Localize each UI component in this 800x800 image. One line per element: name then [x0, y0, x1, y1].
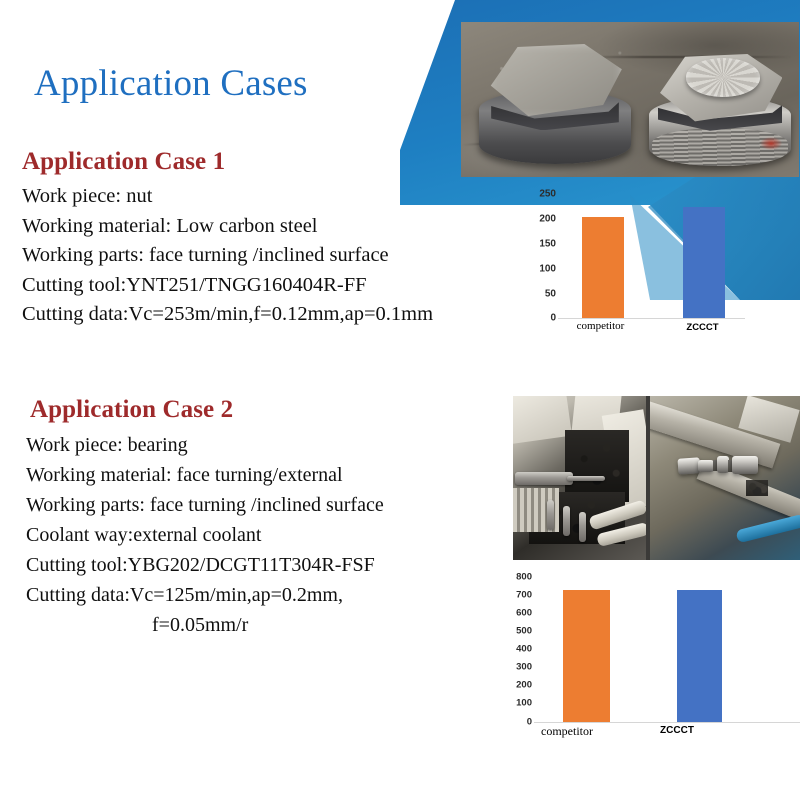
hex-plug-machined [649, 54, 791, 166]
plug-turned-boss [686, 58, 760, 96]
chart-1-y-axis: 250 200 150 100 50 0 [520, 192, 556, 322]
y-tick-label: 250 [539, 189, 556, 200]
chart-1-baseline [558, 318, 745, 319]
case-2-line-material: Working material: face turning/external [26, 460, 384, 490]
turned-shaft-section [698, 460, 714, 472]
y-tick-label: 600 [516, 608, 532, 619]
bar-zccct [677, 590, 722, 722]
chart-2-category-competitor: competitor [512, 724, 622, 739]
chart-case-1: 250 200 150 100 50 0 competitor ZCCCT [520, 192, 745, 342]
metal-chips [746, 480, 768, 496]
case-1-line-parts: Working parts: face turning /inclined su… [22, 241, 433, 271]
case-2-details: Work piece: bearing Working material: fa… [26, 430, 384, 640]
chart-1-bars [558, 192, 745, 318]
case-1-line-workpiece: Work piece: nut [22, 182, 433, 212]
chart-1-category-competitor: competitor [558, 320, 643, 332]
machining-photo-right [650, 396, 800, 560]
page-title: Application Cases [34, 62, 308, 105]
case-2-heading: Application Case 2 [30, 396, 233, 424]
hex-plug-parts-photo [461, 22, 799, 177]
y-tick-label: 50 [545, 289, 556, 300]
case-2-line-cutting-data: Cutting data:Vc=125m/min,ap=0.2mm, [26, 580, 384, 610]
case-2-line-coolant: Coolant way:external coolant [26, 520, 384, 550]
bar-competitor [582, 217, 624, 318]
y-tick-label: 400 [516, 644, 532, 655]
y-tick-label: 200 [539, 214, 556, 225]
bar-competitor [563, 590, 610, 722]
tool-holder [547, 500, 554, 530]
y-tick-label: 0 [550, 313, 556, 324]
y-tick-label: 100 [539, 264, 556, 275]
case-1-details: Work piece: nut Working material: Low ca… [22, 182, 433, 330]
machining-photo-left [513, 396, 646, 560]
chart-case-2: 800 700 600 500 400 300 200 100 0 compet… [500, 574, 800, 744]
case-2-line-workpiece: Work piece: bearing [26, 430, 384, 460]
case-1-line-cutting-tool: Cutting tool:YNT251/TNGG160404R-FF [22, 271, 433, 301]
turned-shaft-section [732, 456, 758, 474]
y-tick-label: 300 [516, 662, 532, 673]
workpiece-spindle [515, 472, 573, 485]
cnc-machining-photo [513, 396, 800, 560]
case-1-line-material: Working material: Low carbon steel [22, 212, 433, 242]
case-2-line-cutting-tool: Cutting tool:YBG202/DCGT11T304R-FSF [26, 550, 384, 580]
slide-canvas: Application Cases Application Case 1 Wor… [0, 0, 800, 800]
bar-zccct [683, 207, 725, 318]
case-1-heading: Application Case 1 [22, 148, 225, 176]
chart-2-category-zccct: ZCCCT [622, 725, 732, 736]
y-tick-label: 150 [539, 239, 556, 250]
hex-plug-as-forged [479, 44, 631, 164]
y-tick-label: 100 [516, 698, 532, 709]
plug-red-reflection [760, 137, 783, 150]
y-tick-label: 700 [516, 590, 532, 601]
chart-2-baseline [534, 722, 800, 723]
tool-holder [563, 506, 570, 536]
y-tick-label: 500 [516, 626, 532, 637]
y-tick-label: 800 [516, 572, 532, 583]
case-1-line-cutting-data: Cutting data:Vc=253m/min,f=0.12mm,ap=0.1… [22, 300, 433, 330]
tool-holder [579, 512, 586, 542]
y-tick-label: 200 [516, 680, 532, 691]
chart-1-category-zccct: ZCCCT [660, 322, 745, 333]
chart-2-bars [534, 574, 800, 722]
case-2-line-feed: f=0.05mm/r [26, 610, 384, 640]
cutting-tool-tip [567, 476, 605, 481]
case-2-line-parts: Working parts: face turning /inclined su… [26, 490, 384, 520]
chart-2-y-axis: 800 700 600 500 400 300 200 100 0 [500, 574, 532, 726]
